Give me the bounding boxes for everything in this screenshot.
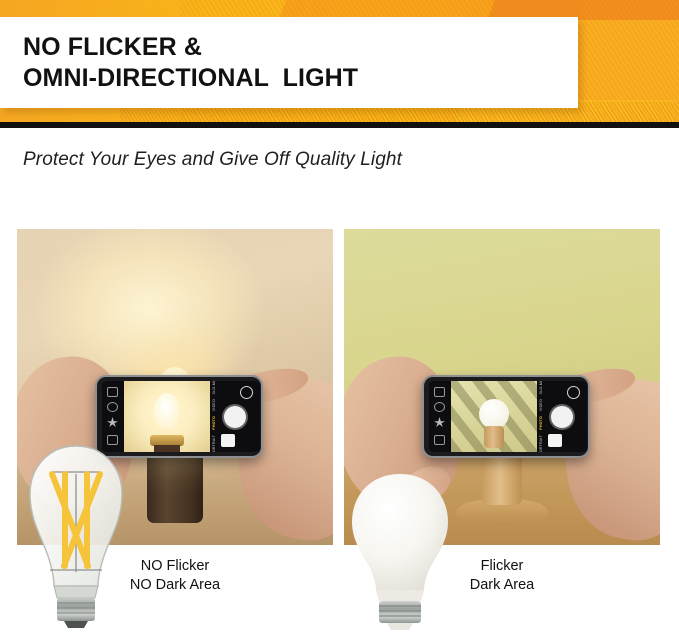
camera-left-rail: [429, 381, 451, 452]
camera-viewport: [451, 381, 537, 452]
viewport-lamp-socket: [484, 426, 504, 448]
gallery-thumbnail[interactable]: [548, 434, 562, 447]
title-line-1: NO FLICKER &: [23, 32, 358, 63]
camera-mode-list: SLO-MO VIDEO PHOTO PORTRAIT: [539, 381, 543, 452]
hdr-icon[interactable]: [434, 387, 445, 397]
bulb-neck: [54, 586, 98, 598]
shutter-button[interactable]: [224, 406, 246, 428]
filter-icon[interactable]: [107, 402, 118, 412]
camera-mode-list: SLO-MO VIDEO PHOTO PORTRAIT: [212, 381, 216, 452]
viewport-lamp-base: [154, 445, 180, 452]
bulb-frosted-globe: [352, 474, 448, 590]
camera-viewport: [124, 381, 210, 452]
camera-right-rail: SLO-MO VIDEO PHOTO PORTRAIT: [537, 381, 587, 452]
viewport-bulb: [154, 393, 180, 429]
camera-mode-option[interactable]: VIDEO: [212, 399, 216, 411]
flash-icon[interactable]: [434, 417, 445, 427]
subtitle: Protect Your Eyes and Give Off Quality L…: [23, 149, 402, 171]
settings-icon[interactable]: [434, 435, 445, 445]
bulb-neck: [376, 590, 424, 601]
filter-icon[interactable]: [434, 402, 445, 412]
camera-mode-option-active[interactable]: PHOTO: [212, 416, 216, 430]
viewport-bulb: [479, 399, 509, 429]
phone-screen: SLO-MO VIDEO PHOTO PORTRAIT: [429, 381, 587, 452]
hdr-icon[interactable]: [107, 387, 118, 397]
bulb-screw-base: [379, 601, 421, 623]
title-line-2: OMNI-DIRECTIONAL LIGHT: [23, 63, 358, 94]
shutter-button[interactable]: [551, 406, 573, 428]
st64-bulb-svg: [18, 438, 134, 630]
bulb-contact-tip: [387, 623, 413, 630]
lamp-socket: [482, 451, 522, 505]
title-card: NO FLICKER & OMNI-DIRECTIONAL LIGHT: [0, 17, 578, 108]
page-title: NO FLICKER & OMNI-DIRECTIONAL LIGHT: [23, 32, 358, 94]
flash-icon[interactable]: [107, 417, 118, 427]
camera-right-rail: SLO-MO VIDEO PHOTO PORTRAIT: [210, 381, 260, 452]
gallery-thumbnail[interactable]: [221, 434, 235, 447]
camera-mode-option-active[interactable]: PHOTO: [539, 416, 543, 430]
camera-mode-option[interactable]: PORTRAIT: [212, 435, 216, 452]
flip-camera-icon[interactable]: [567, 386, 580, 399]
camera-mode-option[interactable]: VIDEO: [539, 399, 543, 411]
camera-mode-option[interactable]: SLO-MO: [212, 381, 216, 394]
product-bulb-clear-st64: [18, 438, 134, 635]
camera-mode-option[interactable]: SLO-MO: [539, 381, 543, 394]
a19-bulb-svg: [344, 468, 456, 632]
flip-camera-icon[interactable]: [240, 386, 253, 399]
product-bulb-frosted-a19: [344, 468, 456, 637]
bulb-screw-base: [57, 598, 95, 621]
bulb-contact-tip: [64, 621, 88, 628]
banner-bottom-rule: [0, 122, 679, 128]
camera-mode-option[interactable]: PORTRAIT: [539, 435, 543, 452]
header-banner: NO FLICKER & OMNI-DIRECTIONAL LIGHT: [0, 0, 679, 128]
smartphone: SLO-MO VIDEO PHOTO PORTRAIT: [422, 375, 590, 458]
